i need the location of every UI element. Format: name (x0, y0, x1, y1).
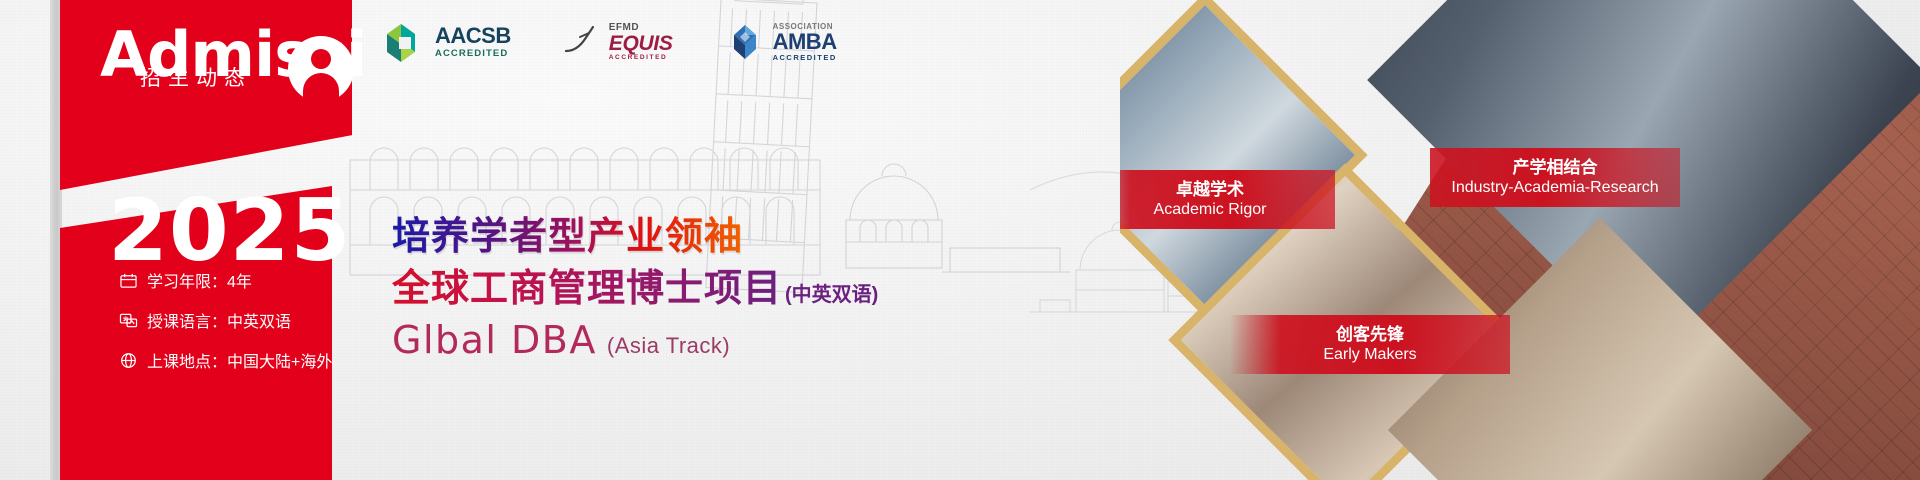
list-item: 学习年限：4年 (118, 268, 348, 292)
label-industry-academia: 产学相结合 Industry-Academia-Research (1430, 148, 1680, 207)
year-label: 2025 (108, 188, 351, 274)
admission-banner: Admissi 招生动态 2025 学习年限：4年 (0, 0, 1920, 480)
amba-sub: ACCREDITED (773, 53, 837, 62)
program-name-row: 全球工商管理博士项目 (中英双语) (392, 266, 878, 312)
equis-name: EQUIS (609, 33, 673, 54)
amba-logo: ASSOCIATION AMBA ACCREDITED (725, 22, 837, 62)
label-en: Academic Rigor (1120, 200, 1317, 220)
label-cn: 创客先锋 (1248, 324, 1492, 345)
headline-slogan: 培养学者型产业领袖 (392, 215, 878, 259)
aacsb-logo: AACSB ACCREDITED (385, 22, 511, 64)
accreditation-logos: AACSB ACCREDITED EFMD EQUIS ACCREDITED (385, 22, 837, 64)
aacsb-mark-icon (385, 22, 427, 64)
program-name-en-row: Glbal DBA (Asia Track) (392, 321, 878, 359)
location-icon (118, 351, 138, 369)
aacsb-sub: ACCREDITED (435, 47, 511, 61)
program-language-note: (中英双语) (785, 278, 878, 307)
equis-sub: ACCREDITED (609, 54, 673, 61)
label-early-makers: 创客先锋 Early Makers (1230, 315, 1510, 374)
facts-list: 学习年限：4年 授课语言：中英双语 上课地点：中国大陆 (118, 268, 348, 388)
amba-diamond-icon (725, 22, 765, 62)
aacsb-name: AACSB (435, 25, 511, 47)
label-academic-rigor: 卓越学术 Academic Rigor (1120, 170, 1335, 229)
brand-chinese-subtitle: 招生动态 (140, 62, 252, 92)
person-icon-body (303, 73, 339, 103)
list-item-label: 学习年限：4年 (147, 268, 252, 292)
person-icon (288, 36, 354, 102)
calendar-icon (118, 271, 138, 289)
list-item-label: 授课语言：中英双语 (147, 308, 291, 332)
language-icon (118, 311, 138, 329)
person-icon-head (311, 49, 331, 69)
photo-collage: 卓越学术 Academic Rigor 产学相结合 Industry-Acade… (1120, 0, 1920, 480)
label-cn: 卓越学术 (1120, 179, 1317, 200)
list-item: 上课地点：中国大陆+海外 (118, 348, 348, 372)
label-cn: 产学相结合 (1448, 157, 1662, 178)
equis-logo: EFMD EQUIS ACCREDITED (563, 22, 673, 61)
title-block: 培养学者型产业领袖 全球工商管理博士项目 (中英双语) Glbal DBA (A… (392, 215, 878, 359)
program-track-note: (Asia Track) (607, 333, 730, 359)
program-name-en: Glbal DBA (392, 321, 597, 359)
program-name-cn: 全球工商管理博士项目 (392, 266, 782, 312)
efmd-swoosh-icon (563, 25, 601, 59)
label-en: Early Makers (1248, 345, 1492, 365)
amba-name: AMBA (773, 31, 837, 53)
list-item: 授课语言：中英双语 (118, 308, 348, 332)
label-en: Industry-Academia-Research (1448, 178, 1662, 198)
list-item-label: 上课地点：中国大陆+海外 (147, 348, 332, 372)
